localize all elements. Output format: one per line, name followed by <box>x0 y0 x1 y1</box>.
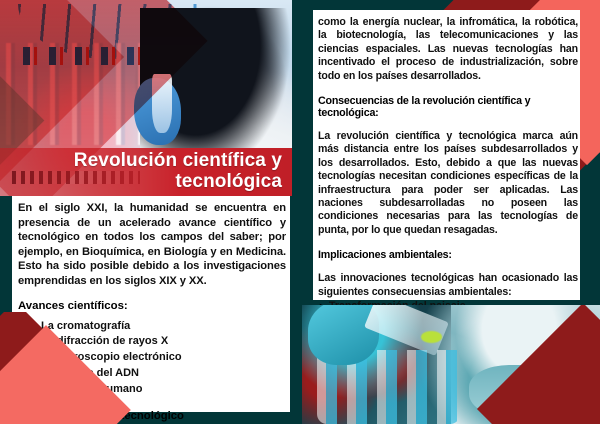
continuation-paragraph: como la energía nuclear, la infromática,… <box>318 16 578 83</box>
brochure-page: Revolución científica y tecnológica En e… <box>0 0 600 424</box>
advances-heading: Avances científicos: <box>18 300 288 312</box>
environmental-heading: Implicaciones ambientales: <box>318 249 579 261</box>
page-title: Revolución científica y tecnológica <box>74 150 282 192</box>
intro-paragraph: En el siglo XXI, la humanidad se encuent… <box>18 201 286 289</box>
bottom-left-corner-decoration <box>0 312 150 424</box>
right-text-panel: como la energía nuclear, la infromática,… <box>313 10 580 300</box>
bottom-lab-photo <box>302 305 600 424</box>
consequences-paragraph: La revolución científica y tecnológica m… <box>318 130 578 237</box>
title-line-2: tecnológica <box>175 171 282 192</box>
environmental-paragraph: Las innovaciones tecnológicas han ocasio… <box>318 272 578 299</box>
right-column: como la energía nuclear, la infromática,… <box>292 0 600 424</box>
title-banner: Revolución científica y tecnológica <box>0 148 292 196</box>
title-line-1: Revolución científica y <box>74 150 282 171</box>
left-column: Revolución científica y tecnológica En e… <box>0 0 292 424</box>
consequences-heading: Consecuencias de la revolución científic… <box>318 95 579 119</box>
photo2-green-sample <box>421 331 442 343</box>
